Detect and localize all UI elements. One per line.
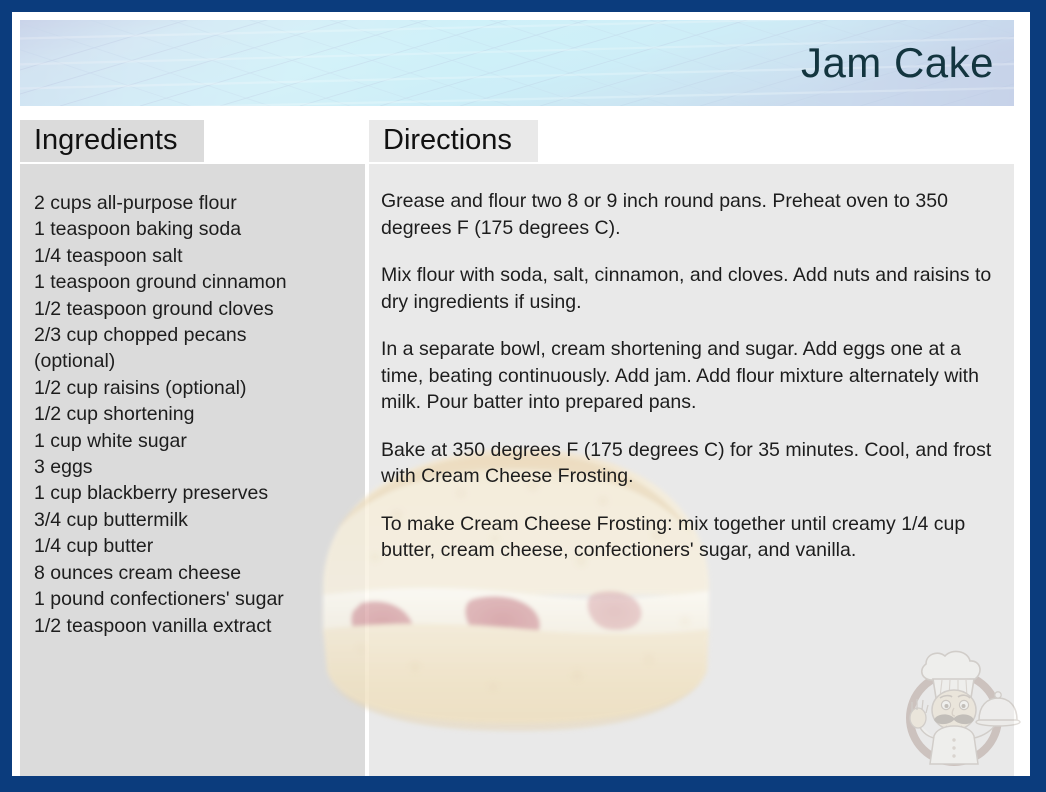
list-item: 1 teaspoon baking soda — [34, 216, 353, 242]
list-item: 1/2 teaspoon vanilla extract — [34, 613, 353, 639]
ingredients-heading: Ingredients — [20, 120, 204, 162]
direction-step: Grease and flour two 8 or 9 inch round p… — [381, 188, 998, 241]
list-item: 1/2 cup raisins (optional) — [34, 375, 353, 401]
directions-column: Directions Grease and flour two 8 or 9 i… — [369, 120, 1014, 776]
page-title: Jam Cake — [801, 39, 994, 87]
content-columns: Ingredients 2 cups all-purpose flour 1 t… — [20, 120, 1014, 776]
list-item: 2/3 cup chopped pecans — [34, 322, 353, 348]
list-item: 1/2 teaspoon ground cloves — [34, 296, 353, 322]
directions-heading: Directions — [369, 120, 538, 162]
list-item: 8 ounces cream cheese — [34, 560, 353, 586]
list-item: 1/4 teaspoon salt — [34, 243, 353, 269]
list-item: 3 eggs — [34, 454, 353, 480]
header-banner: Jam Cake — [20, 20, 1014, 106]
direction-step: In a separate bowl, cream shortening and… — [381, 336, 998, 416]
list-item: 1 cup white sugar — [34, 428, 353, 454]
list-item: 1 cup blackberry preserves — [34, 480, 353, 506]
ingredients-panel: 2 cups all-purpose flour 1 teaspoon baki… — [20, 164, 365, 776]
list-item: 3/4 cup buttermilk — [34, 507, 353, 533]
list-item: 1/2 cup shortening — [34, 401, 353, 427]
direction-step: Bake at 350 degrees F (175 degrees C) fo… — [381, 437, 998, 490]
recipe-card-frame: Jam Cake Ingredients 2 cups all-purpose … — [0, 0, 1046, 792]
list-item: 2 cups all-purpose flour — [34, 190, 353, 216]
directions-panel: Grease and flour two 8 or 9 inch round p… — [369, 164, 1014, 776]
recipe-card-inner: Jam Cake Ingredients 2 cups all-purpose … — [12, 12, 1030, 776]
direction-step: Mix flour with soda, salt, cinnamon, and… — [381, 262, 998, 315]
list-item: 1 pound confectioners' sugar — [34, 586, 353, 612]
ingredient-list: 2 cups all-purpose flour 1 teaspoon baki… — [34, 190, 353, 639]
ingredients-column: Ingredients 2 cups all-purpose flour 1 t… — [20, 120, 365, 776]
list-item: (optional) — [34, 348, 353, 374]
directions-body: Grease and flour two 8 or 9 inch round p… — [369, 164, 1014, 564]
direction-step: To make Cream Cheese Frosting: mix toget… — [381, 511, 998, 564]
ingredients-body: 2 cups all-purpose flour 1 teaspoon baki… — [20, 164, 365, 639]
list-item: 1/4 cup butter — [34, 533, 353, 559]
list-item: 1 teaspoon ground cinnamon — [34, 269, 353, 295]
